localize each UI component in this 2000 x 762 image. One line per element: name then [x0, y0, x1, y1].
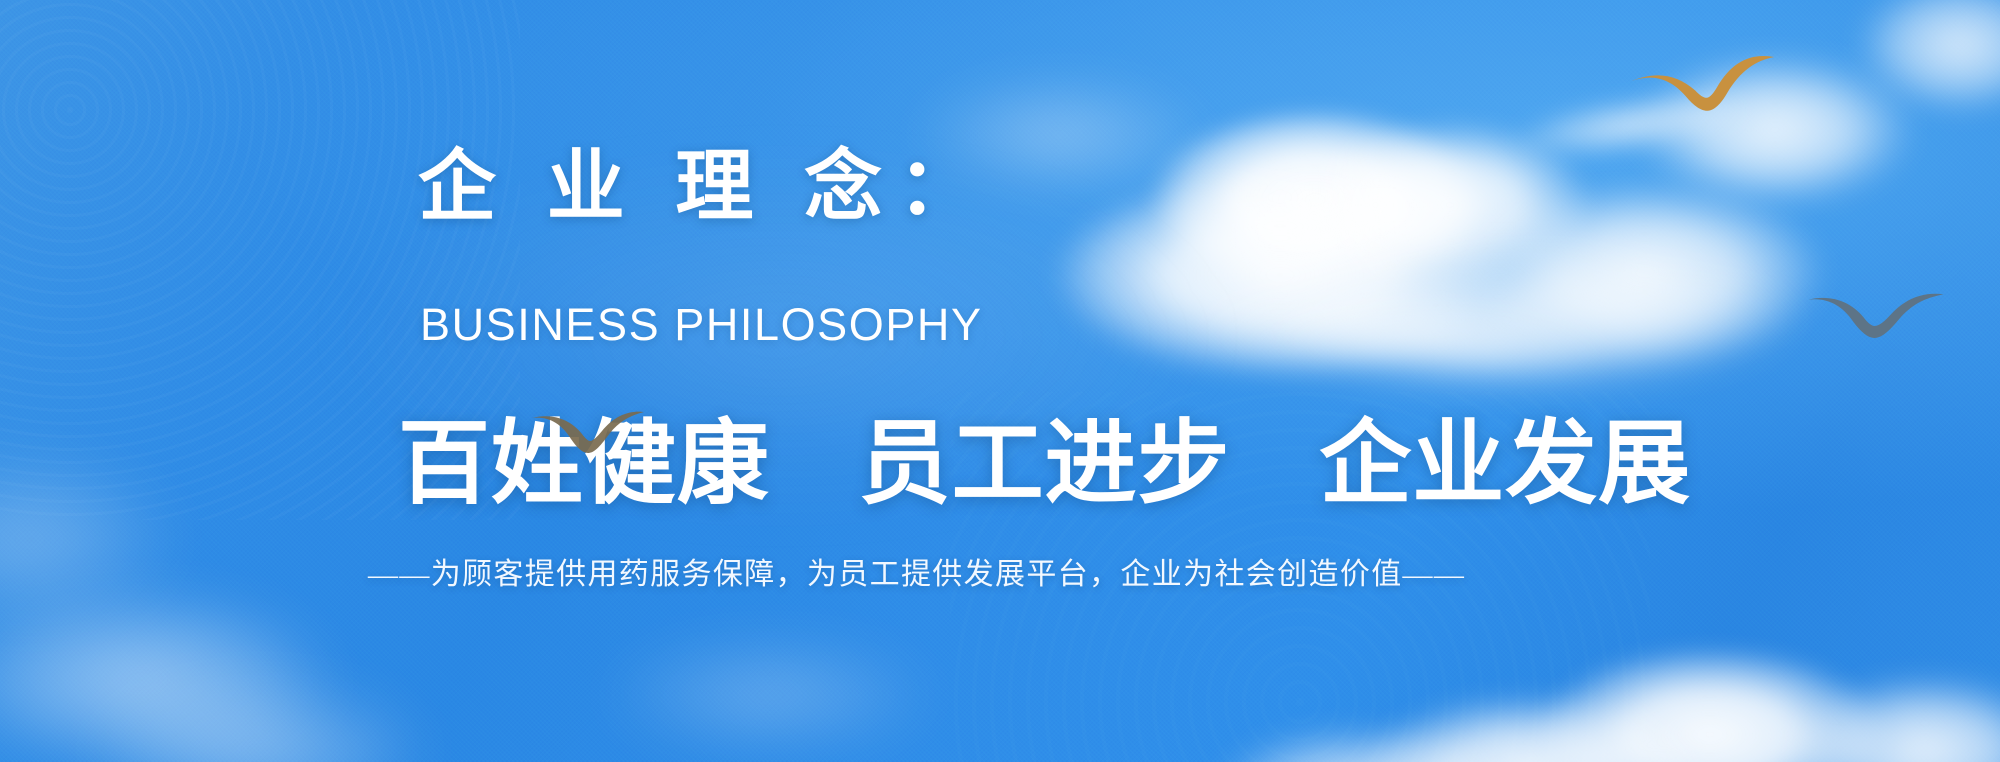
- slogan-part-1: 百姓健康: [398, 413, 770, 515]
- page-subtitle-english: BUSINESS PHILOSOPHY: [420, 302, 983, 347]
- business-philosophy-banner: 企 业 理 念： BUSINESS PHILOSOPHY 百姓健康 员工进步 企…: [0, 0, 2000, 762]
- page-title-chinese: 企 业 理 念：: [418, 148, 991, 226]
- banner-text-content: 企 业 理 念： BUSINESS PHILOSOPHY 百姓健康 员工进步 企…: [0, 0, 2000, 762]
- slogan-part-2: 员工进步: [859, 413, 1231, 515]
- slogan-part-3: 企业发展: [1319, 413, 1691, 515]
- slogan-line: 百姓健康 员工进步 企业发展: [398, 418, 1691, 510]
- tagline-text: ——为顾客提供用药服务保障，为员工提供发展平台，企业为社会创造价值——: [368, 556, 1465, 594]
